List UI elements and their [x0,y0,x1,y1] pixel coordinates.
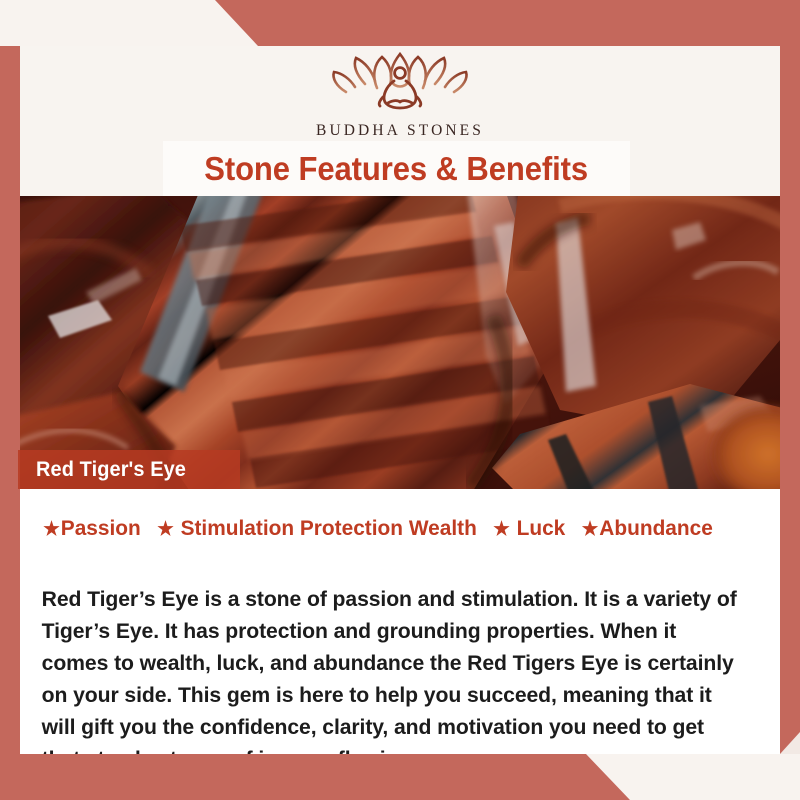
star-icon: ★ [43,519,60,540]
poster-root: BUDDHA STONES Stone Features & Benefits [0,0,800,800]
stone-description: Red Tiger’s Eye is a stone of passion an… [20,563,769,775]
lotus-meditation-icon [320,48,480,120]
keyword-label-1: Stimulation Protection Wealth [181,516,477,540]
keyword-label-2: Luck [517,516,566,540]
red-tigers-eye-beads-illustration [0,196,782,489]
star-icon: ★ [582,519,599,540]
brand-logo: BUDDHA STONES [316,46,484,140]
frame-left-band [0,46,20,754]
frame-right-band [780,46,800,754]
frame-top-band [0,0,800,46]
keyword-item-0: ★Passion [43,516,140,541]
hero-photo [0,196,782,489]
keyword-item-3: ★Abundance [582,516,713,541]
content-panel: ★Passion ★ Stimulation Protection Wealth… [20,489,780,754]
keyword-list: ★Passion ★ Stimulation Protection Wealth… [20,489,757,541]
title-banner: Stone Features & Benefits [20,141,780,196]
page-title: Stone Features & Benefits [205,150,589,188]
keyword-item-2: ★ Luck [493,516,565,541]
keyword-label-3: Abundance [599,516,713,540]
keyword-label-0: Passion [61,516,141,540]
stone-name-ribbon: Red Tiger's Eye [18,450,240,489]
title-panel: Stone Features & Benefits [163,141,630,196]
star-icon: ★ [157,519,174,540]
brand-header: BUDDHA STONES [20,46,780,141]
keyword-item-1: ★ Stimulation Protection Wealth [157,516,477,541]
star-icon: ★ [493,519,510,540]
stone-name-label: Red Tiger's Eye [18,458,186,482]
brand-name: BUDDHA STONES [316,122,484,140]
